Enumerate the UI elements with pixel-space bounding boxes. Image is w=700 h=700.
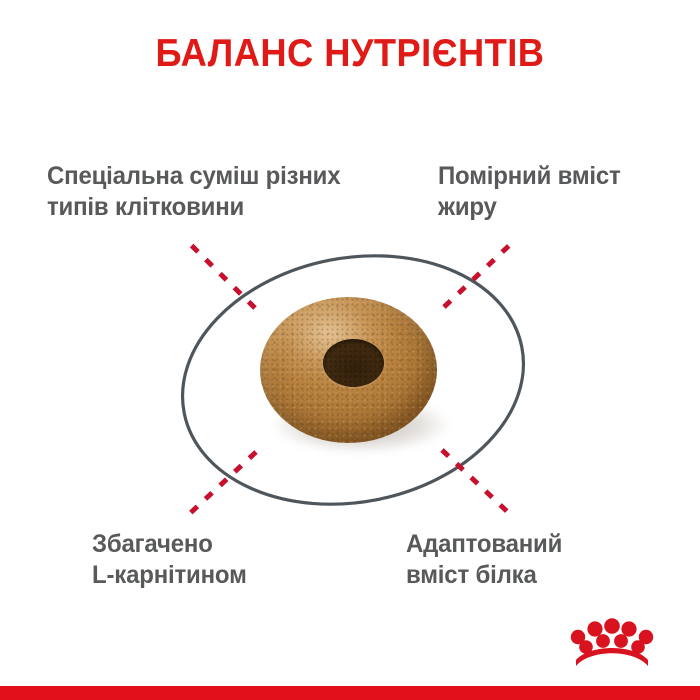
callout-line-1: Адаптований <box>406 529 675 560</box>
connector-line-bottom-left <box>185 452 256 518</box>
connector-line-top-left <box>188 242 255 308</box>
kibble-body <box>260 297 437 443</box>
royal-canin-crown-icon <box>570 616 654 672</box>
callout-line-2: жиру <box>438 192 664 223</box>
callout-line-2: вміст білка <box>406 560 675 591</box>
kibble-donut <box>253 297 449 455</box>
callout-label-adapted-protein: Адаптований вміст білка <box>406 529 675 591</box>
kibble-center-hole <box>323 339 384 387</box>
nutrient-balance-infographic: БАЛАНС НУТРІЄНТІВ Спеціальна суміш різн <box>0 0 700 700</box>
callout-line-1: Спеціальна суміш різних <box>47 161 383 192</box>
connector-line-bottom-right <box>442 450 513 517</box>
callout-label-l-carnitine: Збагачено L-карнітином <box>92 529 380 591</box>
page-title: БАЛАНС НУТРІЄНТІВ <box>25 32 676 76</box>
callout-line-2: типів клітковини <box>47 192 383 223</box>
callout-line-1: Збагачено <box>92 529 380 560</box>
callout-label-fiber-blend: Спеціальна суміш різних типів клітковини <box>47 161 383 223</box>
kibble-hole-texture <box>323 339 384 387</box>
connector-line-top-right <box>444 240 515 307</box>
callout-line-2: L-карнітином <box>92 560 380 591</box>
crown-svg <box>570 616 654 672</box>
callout-label-moderate-fat: Помірний вміст жиру <box>438 161 664 223</box>
brand-bottom-bar <box>0 686 700 700</box>
callout-line-1: Помірний вміст <box>438 161 664 192</box>
